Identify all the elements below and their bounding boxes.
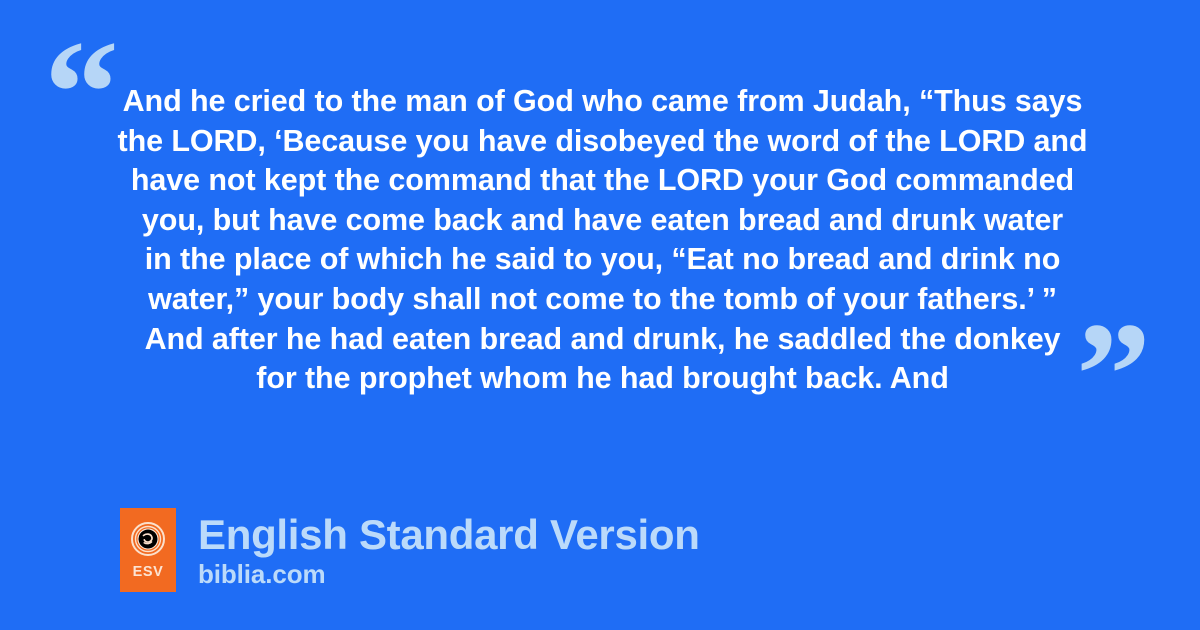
site-name[interactable]: biblia.com <box>198 559 700 589</box>
quote-line: in the place of which he said to you, “E… <box>105 240 1100 280</box>
quote-line: And he cried to the man of God who came … <box>105 82 1100 122</box>
attribution-text: English Standard Version biblia.com <box>198 512 700 589</box>
close-quote-icon: ” <box>1076 300 1151 450</box>
attribution: ESV English Standard Version biblia.com <box>120 508 700 592</box>
esv-seal-icon <box>131 522 165 556</box>
quote-line: water,” your body shall not come to the … <box>105 280 1100 320</box>
quote-line: you, but have come back and have eaten b… <box>105 201 1100 241</box>
esv-logo-label: ESV <box>133 565 164 580</box>
quote-line: for the prophet whom he had brought back… <box>105 359 1100 399</box>
quote-block: And he cried to the man of God who came … <box>105 82 1100 399</box>
quote-line: have not kept the command that the LORD … <box>105 161 1100 201</box>
quote-line: the LORD, ‘Because you have disobeyed th… <box>105 122 1100 162</box>
esv-logo: ESV <box>120 508 176 592</box>
quote-line: And after he had eaten bread and drunk, … <box>105 320 1100 360</box>
bible-version-name: English Standard Version <box>198 512 700 558</box>
bible-quote-share-card: “ And he cried to the man of God who cam… <box>0 0 1200 630</box>
